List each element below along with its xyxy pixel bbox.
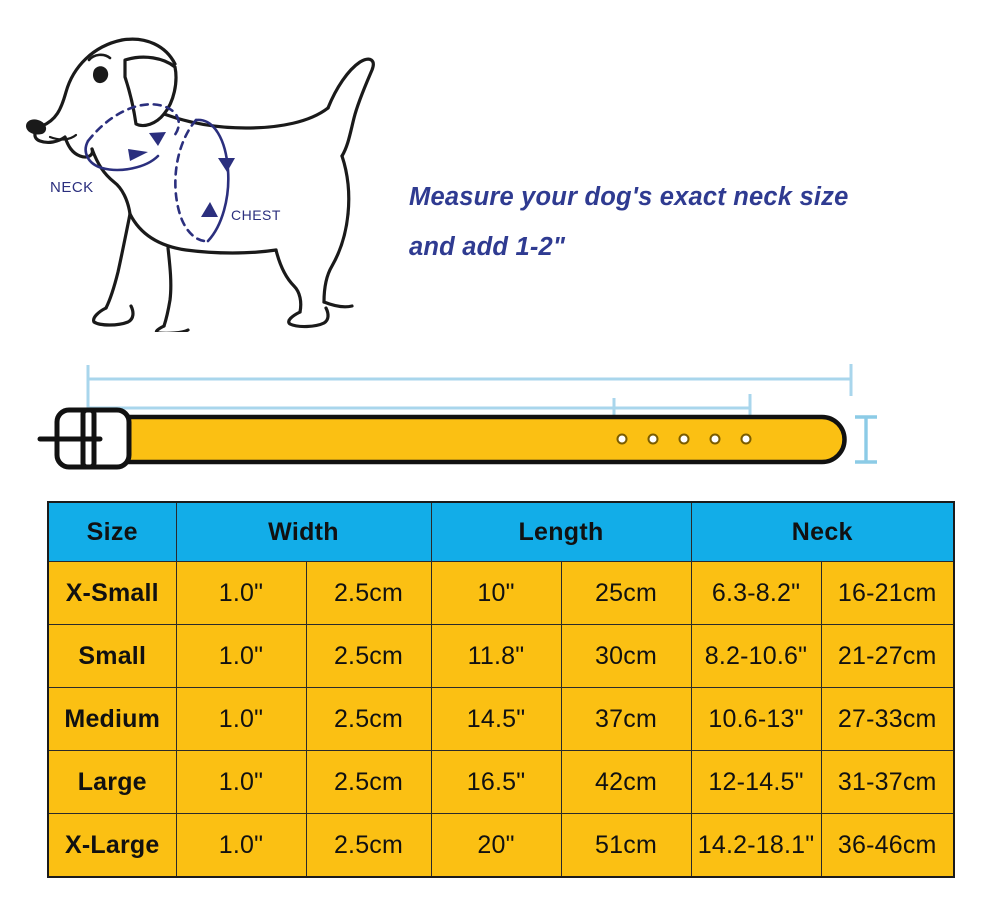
cell-neck-in: 8.2-10.6" — [691, 625, 821, 688]
table-row: Large 1.0" 2.5cm 16.5" 42cm 12-14.5" 31-… — [48, 751, 954, 814]
dog-neck-label: NECK — [50, 179, 94, 196]
dog-illustration: NECK CHEST — [18, 22, 418, 332]
cell-neck-cm: 21-27cm — [821, 625, 954, 688]
dog-outline-icon — [18, 22, 418, 332]
cell-width-in: 1.0" — [176, 814, 306, 878]
size-table-container: Size Width Length Neck X-Small 1.0" 2.5c… — [47, 501, 953, 878]
cell-length-cm: 25cm — [561, 562, 691, 625]
cell-width-in: 1.0" — [176, 625, 306, 688]
cell-width-in: 1.0" — [176, 751, 306, 814]
cell-length-cm: 37cm — [561, 688, 691, 751]
cell-neck-cm: 31-37cm — [821, 751, 954, 814]
collar-strap — [100, 417, 845, 462]
cell-length-in: 20" — [431, 814, 561, 878]
cell-neck-in: 14.2-18.1" — [691, 814, 821, 878]
cell-size: Medium — [48, 688, 176, 751]
table-row: X-Small 1.0" 2.5cm 10" 25cm 6.3-8.2" 16-… — [48, 562, 954, 625]
cell-neck-cm: 27-33cm — [821, 688, 954, 751]
cell-length-in: 14.5" — [431, 688, 561, 751]
neck-arrow-icon — [128, 132, 166, 161]
table-row: Medium 1.0" 2.5cm 14.5" 37cm 10.6-13" 27… — [48, 688, 954, 751]
dog-chest-label: CHEST — [231, 207, 281, 223]
instruction-line-1: Measure your dog's exact neck size — [409, 172, 969, 222]
header-neck: Neck — [691, 502, 954, 562]
cell-width-cm: 2.5cm — [306, 688, 431, 751]
cell-length-cm: 51cm — [561, 814, 691, 878]
cell-neck-in: 12-14.5" — [691, 751, 821, 814]
cell-length-in: 10" — [431, 562, 561, 625]
cell-neck-in: 6.3-8.2" — [691, 562, 821, 625]
cell-width-cm: 2.5cm — [306, 562, 431, 625]
cell-width-cm: 2.5cm — [306, 814, 431, 878]
collar-graphic — [0, 350, 1002, 480]
cell-size: Small — [48, 625, 176, 688]
width-dimension-bracket — [855, 417, 877, 462]
table-row: Small 1.0" 2.5cm 11.8" 30cm 8.2-10.6" 21… — [48, 625, 954, 688]
cell-length-in: 11.8" — [431, 625, 561, 688]
chest-arrow-icon — [201, 158, 235, 217]
cell-length-in: 16.5" — [431, 751, 561, 814]
size-chart-canvas: NECK CHEST Measure your dog's exact neck… — [0, 0, 1002, 909]
cell-width-in: 1.0" — [176, 688, 306, 751]
header-width: Width — [176, 502, 431, 562]
measure-instruction: Measure your dog's exact neck size and a… — [409, 172, 969, 272]
cell-neck-cm: 36-46cm — [821, 814, 954, 878]
cell-size: Large — [48, 751, 176, 814]
table-row: X-Large 1.0" 2.5cm 20" 51cm 14.2-18.1" 3… — [48, 814, 954, 878]
cell-size: X-Small — [48, 562, 176, 625]
length-dimension-line — [88, 364, 851, 418]
table-header-row: Size Width Length Neck — [48, 502, 954, 562]
cell-length-cm: 30cm — [561, 625, 691, 688]
cell-width-in: 1.0" — [176, 562, 306, 625]
header-length: Length — [431, 502, 691, 562]
header-size: Size — [48, 502, 176, 562]
cell-neck-in: 10.6-13" — [691, 688, 821, 751]
cell-width-cm: 2.5cm — [306, 625, 431, 688]
size-chart-table: Size Width Length Neck X-Small 1.0" 2.5c… — [47, 501, 955, 878]
collar-diagram: Length Neck Width — [0, 350, 1002, 480]
cell-width-cm: 2.5cm — [306, 751, 431, 814]
cell-length-cm: 42cm — [561, 751, 691, 814]
cell-size: X-Large — [48, 814, 176, 878]
cell-neck-cm: 16-21cm — [821, 562, 954, 625]
instruction-line-2: and add 1-2" — [409, 222, 969, 272]
